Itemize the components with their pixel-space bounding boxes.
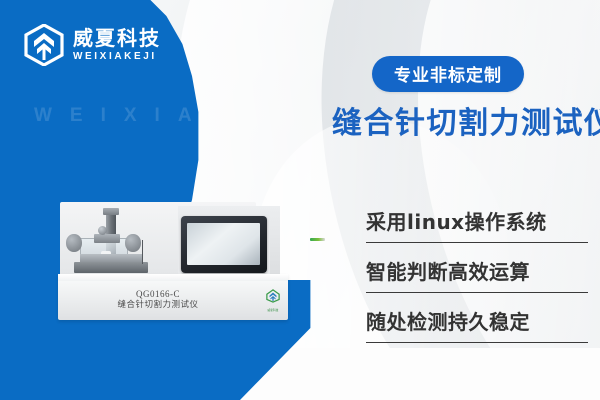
- feature-label: 随处检测持久稳定: [366, 306, 588, 335]
- machine-knob: [98, 226, 107, 235]
- list-item: 采用linux操作系统: [366, 206, 588, 243]
- page-title: 缝合针切割力测试仪: [332, 98, 600, 142]
- list-item: 随处检测持久稳定: [366, 306, 588, 343]
- feature-label: 智能判断高效运算: [366, 256, 588, 285]
- hexagon-arrow-logo-icon: [24, 24, 64, 66]
- watermark-text: WEIXIAKEJI: [34, 105, 324, 127]
- machine-base-plate: [74, 262, 148, 273]
- feature-list: 采用linux操作系统 智能判断高效运算 随处检测持久稳定: [366, 206, 588, 356]
- product-banner: 威夏科技 WEIXIAKEJI WEIXIAKEJI 专业非标定制 缝合针切割力…: [0, 0, 600, 400]
- machine-screen-display: [187, 223, 260, 265]
- product-photo: QG0166-C 缝合针切割力测试仪 威夏科技: [58, 196, 288, 326]
- green-logo-label: 威夏科技: [263, 308, 283, 312]
- machine-disc-right: [125, 234, 141, 252]
- machine-nameplate: QG0166-C 缝合针切割力测试仪: [58, 288, 258, 312]
- machine-base-top-edge: [58, 274, 288, 281]
- machine-product-name: 缝合针切割力测试仪: [58, 300, 258, 311]
- machine-disc-left: [66, 234, 82, 252]
- feature-divider: [366, 242, 588, 243]
- custom-made-badge: 专业非标定制: [372, 56, 524, 92]
- brand-name-en: WEIXIAKEJI: [73, 52, 161, 62]
- screen-brand-label: [310, 238, 325, 242]
- feature-divider: [366, 342, 588, 343]
- list-item: 智能判断高效运算: [366, 256, 588, 293]
- brand-name-cn: 威夏科技: [73, 28, 161, 48]
- machine-column-cap: [103, 208, 119, 215]
- machine-arm: [94, 234, 120, 243]
- feature-label: 采用linux操作系统: [366, 206, 588, 235]
- machine-cable: [142, 240, 143, 264]
- green-company-logo-icon: 威夏科技: [263, 289, 283, 312]
- machine-model-number: QG0166-C: [58, 288, 258, 300]
- feature-divider: [366, 292, 588, 293]
- brand-logo: 威夏科技 WEIXIAKEJI: [24, 24, 161, 66]
